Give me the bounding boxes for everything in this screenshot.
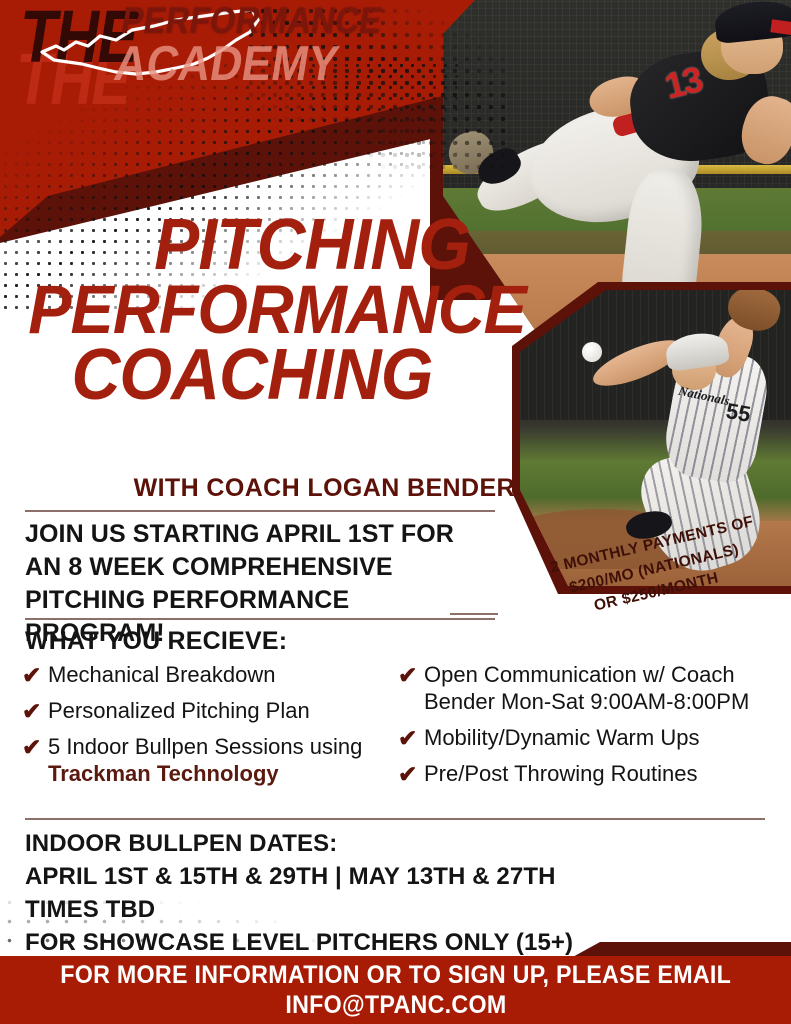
schedule-dates: APRIL 1ST & 15TH & 29TH | MAY 13TH & 27T…	[25, 861, 755, 894]
footer-line-1: FOR MORE INFORMATION OR TO SIGN UP, PLEA…	[60, 960, 731, 991]
divider-above-lede	[25, 510, 495, 512]
check-icon: ✔	[398, 662, 424, 689]
title-line-2: PERFORMANCE	[28, 278, 470, 341]
benefit-item: ✔ Personalized Pitching Plan	[22, 698, 412, 725]
benefit-item: ✔ Mechanical Breakdown	[22, 662, 412, 689]
title-line-1: PITCHING	[28, 212, 470, 278]
benefits-column-right: ✔ Open Communication w/ Coach Bender Mon…	[398, 662, 778, 797]
photo2-jersey-number: 55	[724, 398, 753, 428]
benefit-item: ✔ 5 Indoor Bullpen Sessions using Trackm…	[22, 734, 412, 788]
benefit-text: Open Communication w/ Coach Bender Mon-S…	[424, 662, 778, 716]
check-icon: ✔	[22, 698, 48, 725]
benefit-item: ✔ Pre/Post Throwing Routines	[398, 761, 778, 788]
schedule-block: INDOOR BULLPEN DATES: APRIL 1ST & 15TH &…	[25, 828, 755, 960]
benefit-text: Pre/Post Throwing Routines	[424, 761, 698, 788]
benefits-heading: WHAT YOU RECIEVE:	[25, 627, 287, 656]
benefit-accent-text: Trackman Technology	[48, 761, 362, 788]
benefit-text: Mobility/Dynamic Warm Ups	[424, 725, 699, 752]
check-icon: ✔	[22, 662, 48, 689]
benefit-item: ✔ Mobility/Dynamic Warm Ups	[398, 725, 778, 752]
benefits-column-left: ✔ Mechanical Breakdown ✔ Personalized Pi…	[22, 662, 412, 797]
divider-above-schedule	[25, 818, 765, 820]
logo-wordmark: PERFORMANCE ACADEMY	[111, 4, 419, 87]
benefit-item: ✔ Open Communication w/ Coach Bender Mon…	[398, 662, 778, 716]
schedule-heading: INDOOR BULLPEN DATES:	[25, 828, 755, 861]
flyer-page: 13 THE THE PERFORMANCE ACADEMY PITCHING …	[0, 0, 791, 1024]
title-subtitle: WITH COACH LOGAN BENDER	[0, 474, 515, 503]
check-icon: ✔	[398, 725, 424, 752]
title-line-3: COACHING	[28, 342, 470, 408]
brand-logo: THE THE PERFORMANCE ACADEMY	[14, 2, 314, 102]
check-icon: ✔	[22, 734, 48, 761]
logo-academy-text: ACADEMY	[111, 41, 384, 87]
benefit-text: Personalized Pitching Plan	[48, 698, 310, 725]
logo-performance-text: PERFORMANCE	[119, 4, 384, 39]
page-title: PITCHING PERFORMANCE COACHING	[0, 212, 470, 408]
benefit-text: 5 Indoor Bullpen Sessions using Trackman…	[48, 734, 362, 788]
schedule-times: TIMES TBD	[25, 894, 755, 927]
footer-contact-bar: FOR MORE INFORMATION OR TO SIGN UP, PLEA…	[0, 956, 791, 1024]
check-icon: ✔	[398, 761, 424, 788]
footer-email[interactable]: INFO@TPANC.COM	[285, 990, 506, 1021]
benefit-text: Mechanical Breakdown	[48, 662, 275, 689]
